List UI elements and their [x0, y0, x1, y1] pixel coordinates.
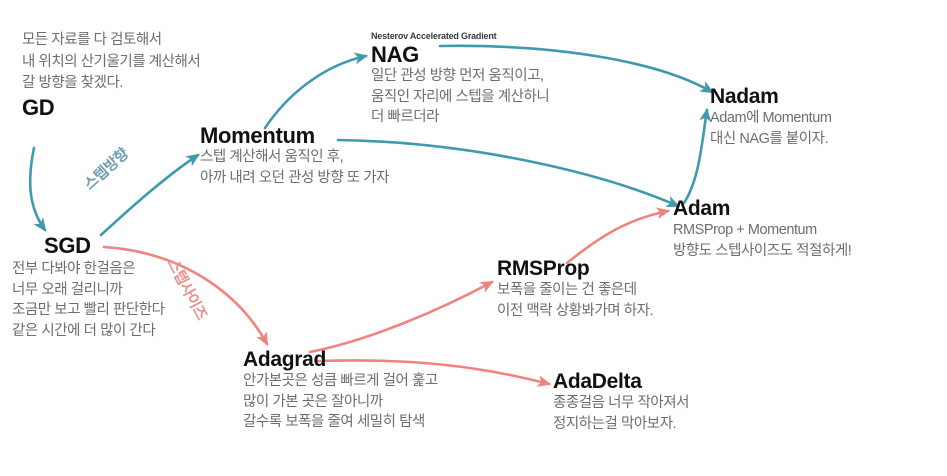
node-adagrad-title: Adagrad [243, 349, 438, 371]
node-gd[interactable]: 모든 자료를 다 검토해서 내 위치의 산기울기를 계산해서 갈 방향을 찾겠다… [22, 31, 200, 119]
node-adam-desc-line-1: RMSProp + Momentum [673, 221, 851, 241]
node-nadam-desc-line-1: Adam에 Momentum [710, 109, 831, 129]
node-adam-desc-line-2: 방향도 스텝사이즈도 적절하게! [673, 242, 851, 262]
node-nadam[interactable]: Nadam Adam에 Momentum 대신 NAG를 붙이자. [710, 86, 831, 149]
node-adagrad[interactable]: Adagrad 안가본곳은 성큼 빠르게 걸어 훑고 많이 가본 곳은 잘아니까… [243, 349, 438, 433]
node-adam[interactable]: Adam RMSProp + Momentum 방향도 스텝사이즈도 적절하게! [673, 198, 851, 261]
node-nag-desc-line-2: 움직인 자리에 스텝을 계산하니 [371, 88, 549, 108]
node-sgd-desc-line-2: 너무 오래 걸리니까 [12, 281, 165, 301]
node-nag[interactable]: Nesterov Accelerated Gradient NAG 일단 관성 … [371, 32, 549, 128]
edge-momentum-nag [265, 56, 366, 128]
node-sgd-desc-line-1: 전부 다봐야 한걸음은 [12, 260, 165, 280]
node-gd-desc-line-1: 모든 자료를 다 검토해서 [22, 31, 200, 51]
node-nag-title: NAG [371, 43, 549, 66]
edge-gd-sgd [30, 148, 45, 230]
node-adagrad-desc-line-1: 안가본곳은 성큼 빠르게 걸어 훑고 [243, 372, 438, 392]
edge-adagrad-rmsprop [310, 282, 492, 352]
edge-rmsprop-adam [567, 211, 668, 263]
node-adagrad-desc-line-2: 많이 가본 곳은 잘아니까 [243, 393, 438, 413]
node-gd-desc-line-2: 내 위치의 산기울기를 계산해서 [22, 53, 200, 73]
edge-label-step-direction: 스텝방향 [79, 143, 133, 194]
optimizer-family-diagram: 모든 자료를 다 검토해서 내 위치의 산기울기를 계산해서 갈 방향을 찾겠다… [0, 0, 947, 476]
node-nag-supertitle: Nesterov Accelerated Gradient [371, 32, 549, 42]
node-adadelta-desc-line-1: 종종걸음 너무 작아져서 [553, 394, 689, 414]
node-adadelta[interactable]: AdaDelta 종종걸음 너무 작아져서 정지하는걸 막아보자. [553, 371, 689, 434]
node-momentum-desc-line-2: 아까 내려 오던 관성 방향 또 가자 [200, 169, 389, 189]
node-gd-desc-line-3: 갈 방향을 찾겠다. [22, 74, 200, 94]
edge-adam-nadam [684, 110, 707, 203]
node-adam-title: Adam [673, 198, 851, 220]
node-sgd-desc-line-4: 같은 시간에 더 많이 간다 [12, 322, 165, 342]
node-momentum[interactable]: Momentum 스텝 계산해서 움직인 후, 아까 내려 오던 관성 방향 또… [200, 124, 389, 188]
node-adadelta-desc-line-2: 정지하는걸 막아보자. [553, 415, 689, 435]
node-nag-desc-line-1: 일단 관성 방향 먼저 움직이고, [371, 67, 549, 87]
node-nag-desc-line-3: 더 빠르더라 [371, 108, 549, 128]
node-gd-title: GD [22, 96, 200, 119]
node-sgd[interactable]: SGD [44, 234, 91, 257]
node-sgd-desc-line-3: 조금만 보고 빨리 판단한다 [12, 301, 165, 321]
node-sgd-description: 전부 다봐야 한걸음은 너무 오래 걸리니까 조금만 보고 빨리 판단한다 같은… [12, 259, 165, 341]
edge-label-step-size: 스텝사이즈 [163, 255, 213, 324]
node-rmsprop-title: RMSProp [497, 258, 653, 280]
node-rmsprop-desc-line-2: 이전 맥락 상황봐가며 하자. [497, 302, 653, 322]
node-rmsprop[interactable]: RMSProp 보폭을 줄이는 건 좋은데 이전 맥락 상황봐가며 하자. [497, 258, 653, 321]
node-rmsprop-desc-line-1: 보폭을 줄이는 건 좋은데 [497, 281, 653, 301]
node-adagrad-desc-line-3: 갈수록 보폭을 줄여 세밀히 탐색 [243, 413, 438, 433]
node-nadam-desc-line-2: 대신 NAG를 붙이자. [710, 130, 831, 150]
node-nadam-title: Nadam [710, 86, 831, 108]
node-sgd-title: SGD [44, 234, 91, 257]
node-momentum-desc-line-1: 스텝 계산해서 움직인 후, [200, 148, 389, 168]
node-momentum-title: Momentum [200, 124, 389, 147]
node-adadelta-title: AdaDelta [553, 371, 689, 393]
